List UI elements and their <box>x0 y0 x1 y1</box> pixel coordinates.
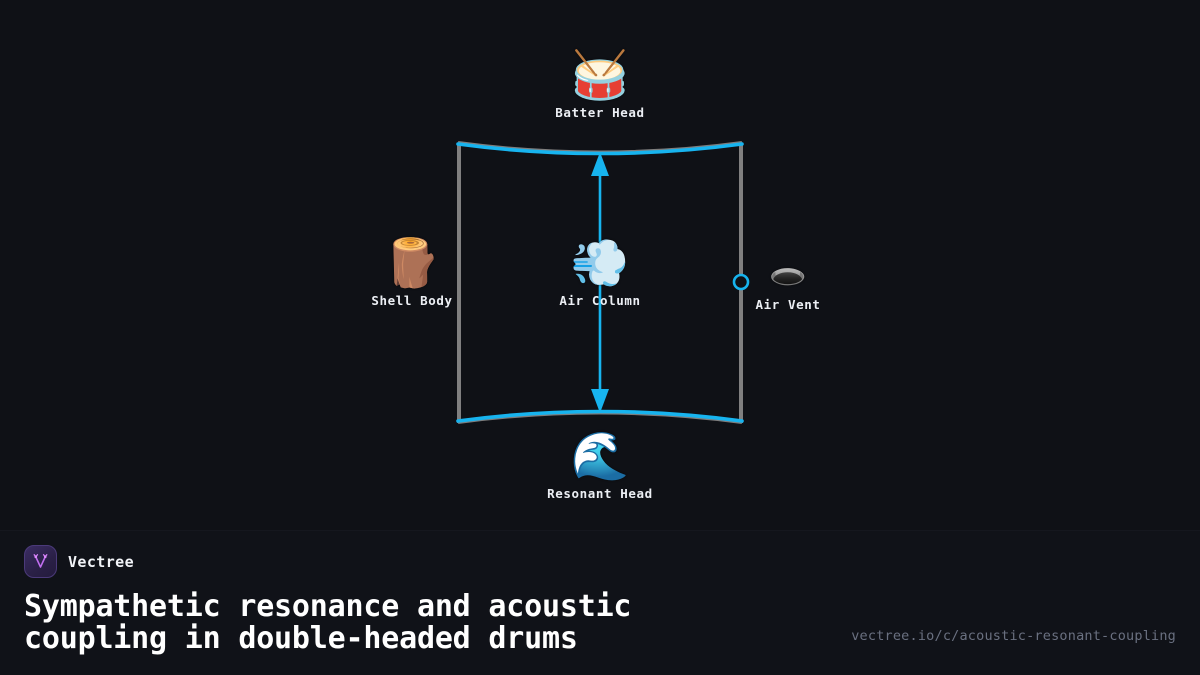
footer-bar: Vectree Sympathetic resonance and acoust… <box>0 530 1200 675</box>
page-root: 🥁 Batter Head 🪵 Shell Body 💨 Air Column … <box>0 0 1200 675</box>
wind-emoji: 💨 <box>500 240 700 287</box>
node-batter-head[interactable]: 🥁 Batter Head <box>500 52 700 120</box>
brand-block[interactable]: Vectree <box>24 545 134 578</box>
node-label-batter-head: Batter Head <box>500 105 700 120</box>
page-title: Sympathetic resonance and acoustic coupl… <box>24 591 824 655</box>
brand-name-label: Vectree <box>68 553 134 571</box>
drum-diagram: 🥁 Batter Head 🪵 Shell Body 💨 Air Column … <box>0 0 1200 530</box>
wave-emoji: 🌊 <box>500 433 700 480</box>
wood-log-emoji: 🪵 <box>312 240 512 287</box>
air-column-arrowhead-up <box>591 152 609 176</box>
hole-emoji: 🕳️ <box>688 258 888 288</box>
v-tree-glyph-icon <box>31 552 50 571</box>
drum-emoji: 🥁 <box>500 52 700 99</box>
vectree-logo-icon <box>24 545 57 578</box>
node-label-shell-body: Shell Body <box>312 293 512 308</box>
node-label-resonant-head: Resonant Head <box>500 486 700 501</box>
node-label-air-column: Air Column <box>500 293 700 308</box>
node-air-vent[interactable]: 🕳️ Air Vent <box>688 258 888 312</box>
node-label-air-vent: Air Vent <box>688 297 888 312</box>
source-url-label: vectree.io/c/acoustic-resonant-coupling <box>851 628 1176 644</box>
air-column-arrowhead-down <box>591 389 609 413</box>
node-resonant-head[interactable]: 🌊 Resonant Head <box>500 433 700 501</box>
node-air-column[interactable]: 💨 Air Column <box>500 240 700 308</box>
node-shell-body[interactable]: 🪵 Shell Body <box>312 240 512 308</box>
